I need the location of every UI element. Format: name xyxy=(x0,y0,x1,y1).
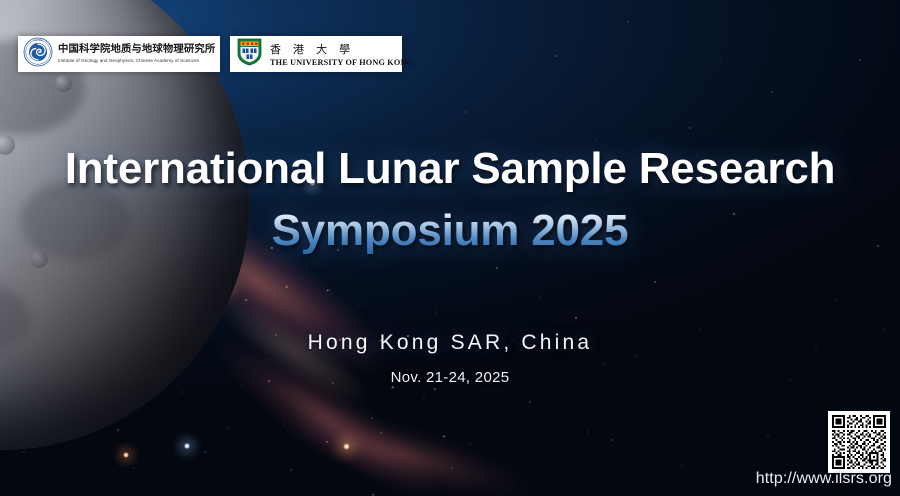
bright-star-gold xyxy=(343,443,350,450)
logo-igg-name-en: Institute of Geology and Geophysics, Chi… xyxy=(58,58,215,63)
conference-poster: 中国科学院 中国科学院地质与地球物理研究所 Institute of Geolo… xyxy=(0,0,900,496)
logo-igg-cas[interactable]: 中国科学院 中国科学院地质与地球物理研究所 Institute of Geolo… xyxy=(18,36,220,72)
website-url[interactable]: http://www.ilsrs.org xyxy=(756,470,892,488)
cas-seal-icon: 中国科学院 xyxy=(23,37,53,72)
event-location: Hong Kong SAR, China xyxy=(0,331,900,355)
hku-shield-icon xyxy=(236,37,263,72)
logo-igg-name-cn: 中国科学院地质与地球物理研究所 xyxy=(58,45,215,56)
poster-title: International Lunar Sample Research Symp… xyxy=(0,138,900,262)
logo-hku-name-en: THE UNIVERSITY OF HONG KONG xyxy=(270,58,413,67)
event-date: Nov. 21-24, 2025 xyxy=(0,369,900,386)
poster-title-line1: International Lunar Sample Research xyxy=(65,144,836,193)
sponsor-logo-bar: 中国科学院 中国科学院地质与地球物理研究所 Institute of Geolo… xyxy=(18,36,402,72)
logo-hku-name-cn: 香 港 大 學 xyxy=(270,41,413,57)
logo-hku[interactable]: 香 港 大 學 THE UNIVERSITY OF HONG KONG xyxy=(230,36,402,72)
bright-star-amber xyxy=(123,452,129,458)
qr-code-icon[interactable] xyxy=(828,411,890,473)
poster-title-line2: Symposium 2025 xyxy=(0,200,900,262)
